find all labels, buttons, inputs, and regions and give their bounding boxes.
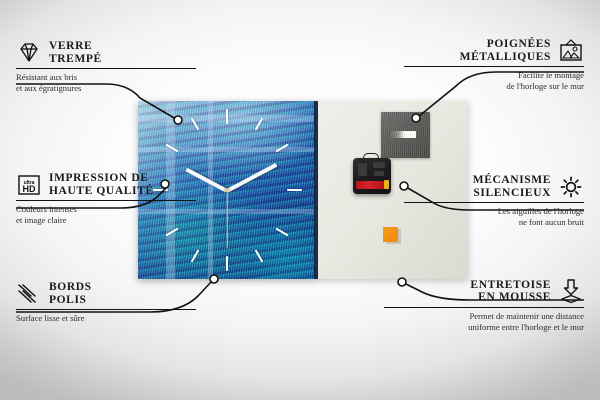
svg-text:HD: HD [23,184,36,194]
feature-rule [404,66,584,68]
feature-title: VERRE TREMPÉ [49,40,102,65]
feature-rule [16,309,196,311]
polished-edge-lines-icon [16,283,42,305]
feature-title: BORDS POLIS [49,281,92,306]
gear-icon [558,175,584,199]
feature-rule [16,68,196,70]
connector-endpoint [210,275,218,283]
feature-heading: VERRE TREMPÉ [16,40,196,65]
feature-poignees-metalliques: POIGNÉES MÉTALLIQUES Facilite le montage… [404,38,584,91]
feature-heading: ENTRETOISE EN MOUSSE [384,278,584,304]
feature-impression-haute-qualite: ultra HD IMPRESSION DE HAUTE QUALITÉ Cou… [16,172,196,225]
feature-rule [384,307,584,309]
ultra-hd-icon: ultra HD [16,173,42,197]
feature-description: Surface lisse et sûre [16,313,196,324]
feature-rule [404,202,584,204]
feature-description: Couleurs intenses et image claire [16,204,196,225]
feature-description: Permet de maintenir une distance uniform… [384,311,584,332]
feature-description: Résistant aux bris et aux égratignures [16,72,196,93]
diamond-icon [16,42,42,64]
feature-verre-trempe: VERRE TREMPÉ Résistant aux bris et aux é… [16,40,196,93]
feature-description: Les aiguilles de l'horloge ne font aucun… [404,206,584,227]
connector-endpoint [174,116,182,124]
feature-heading: MÉCANISME SILENCIEUX [404,174,584,199]
feature-entretoise-en-mousse: ENTRETOISE EN MOUSSE Permet de maintenir… [384,278,584,332]
hanging-picture-frame-icon [558,39,584,63]
feature-heading: POIGNÉES MÉTALLIQUES [404,38,584,63]
feature-rule [16,200,196,202]
infographic-canvas: VERRE TREMPÉ Résistant aux bris et aux é… [0,0,600,400]
feature-heading: BORDS POLIS [16,281,196,306]
feature-title: ENTRETOISE EN MOUSSE [470,279,551,304]
connector-endpoint [412,114,420,122]
feature-bords-polis: BORDS POLIS Surface lisse et sûre [16,281,196,324]
foam-spacer-arrow-icon [558,278,584,304]
feature-title: POIGNÉES MÉTALLIQUES [460,38,551,63]
feature-description: Facilite le montage de l'horloge sur le … [404,70,584,91]
feature-title: IMPRESSION DE HAUTE QUALITÉ [49,172,154,197]
feature-mecanisme-silencieux: MÉCANISME SILENCIEUX Les aiguilles de l'… [404,174,584,227]
feature-heading: ultra HD IMPRESSION DE HAUTE QUALITÉ [16,172,196,197]
feature-title: MÉCANISME SILENCIEUX [473,174,551,199]
